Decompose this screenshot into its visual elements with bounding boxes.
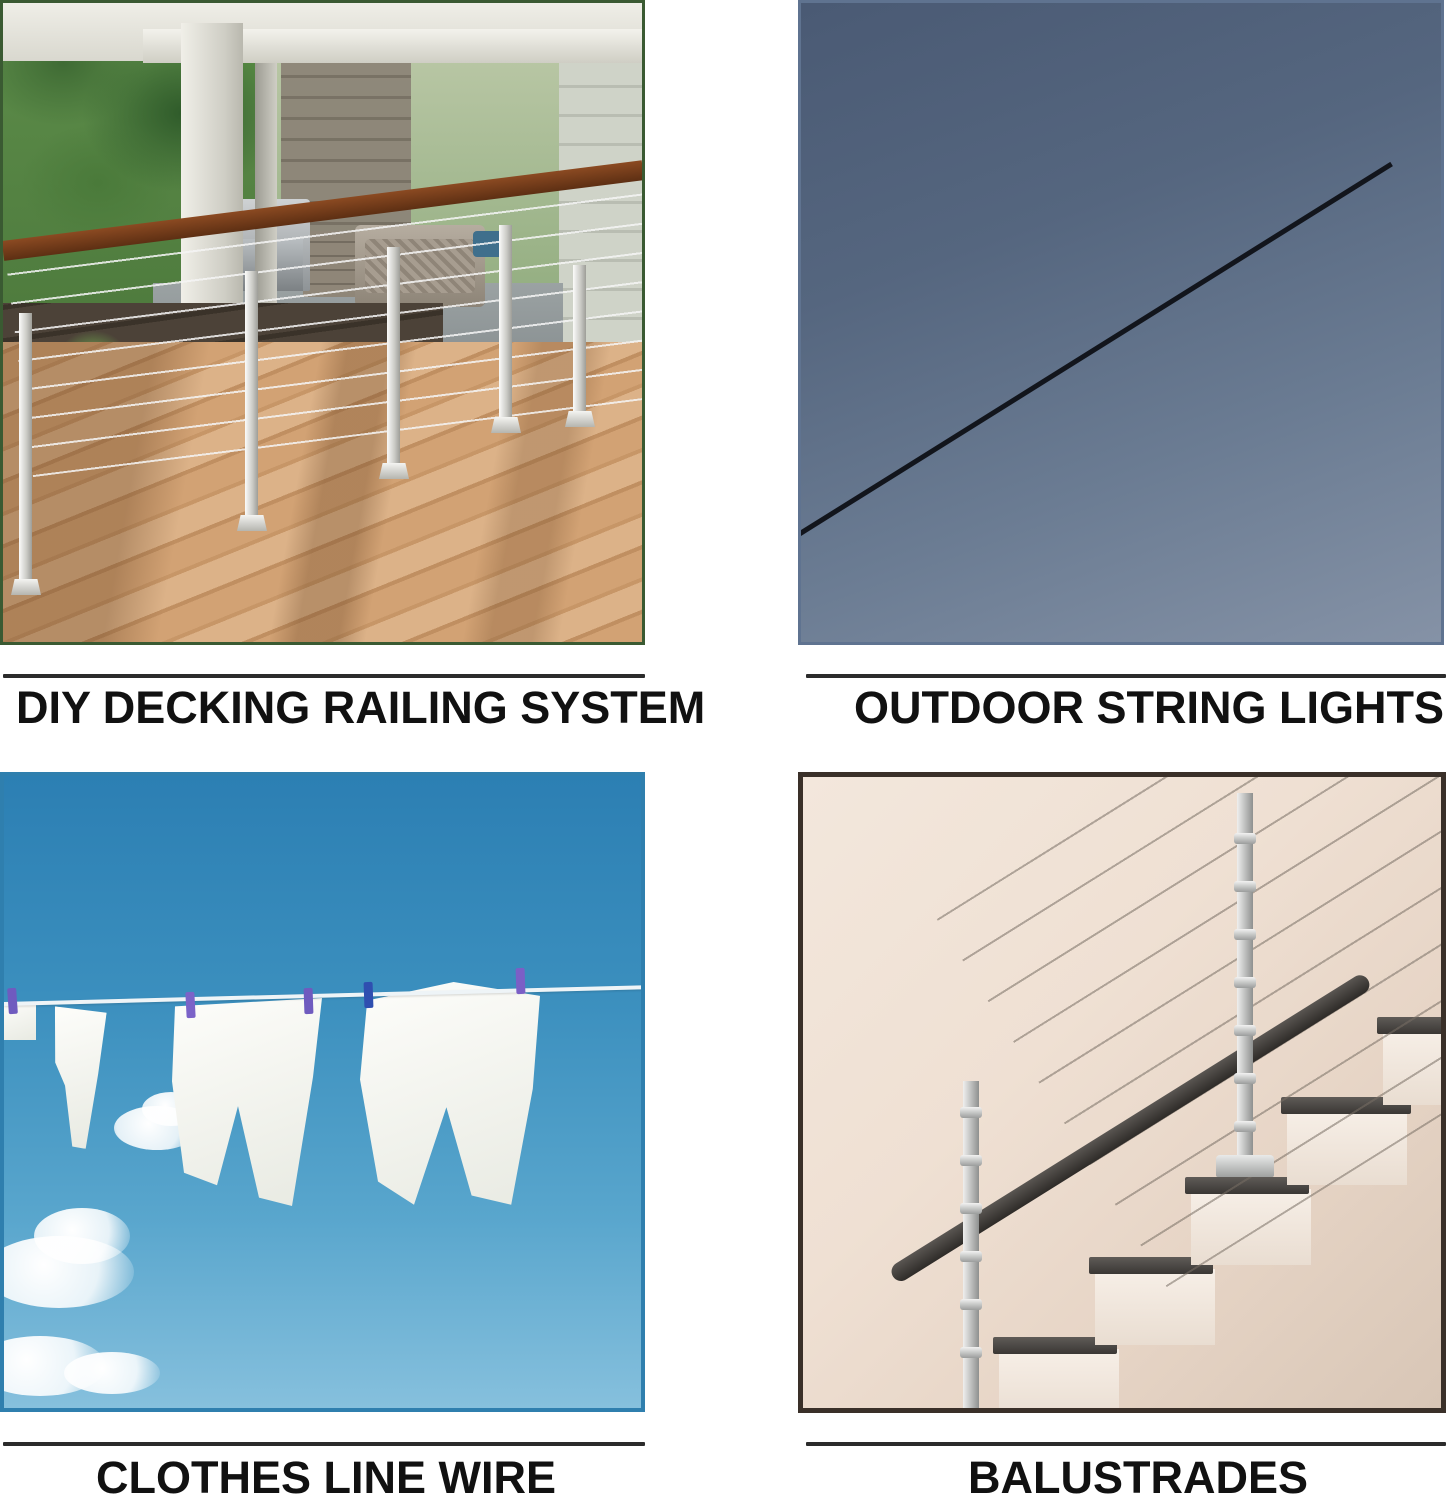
- caption-rule-1: [3, 674, 645, 678]
- string-light-bulb: [1317, 249, 1341, 279]
- category-card-clothes-line-wire[interactable]: CLOTHES LINE WIRE: [0, 772, 725, 1500]
- category-card-balustrades[interactable]: BALUSTRADES: [798, 772, 1450, 1500]
- photo-diy-decking-railing-system: [0, 0, 645, 645]
- caption-diy-decking-railing-system: DIY DECKING RAILING SYSTEM: [16, 685, 705, 730]
- string-light-bulb: [1423, 165, 1444, 195]
- string-light-bulb: [1006, 491, 1030, 521]
- string-light-bulb: [877, 569, 901, 599]
- clothespin: [364, 982, 374, 1008]
- category-card-outdoor-string-lights[interactable]: OUTDOOR STRING LIGHTS: [798, 0, 1450, 770]
- clothespin: [516, 968, 526, 994]
- photo-balustrades: [798, 772, 1446, 1413]
- photo-outdoor-string-lights: [798, 0, 1444, 645]
- photo-clothes-line-wire: [0, 772, 645, 1412]
- caption-rule-2: [806, 674, 1446, 678]
- caption-rule-4: [806, 1442, 1446, 1446]
- string-light-bulb: [825, 601, 849, 631]
- caption-clothes-line-wire: CLOTHES LINE WIRE: [96, 1455, 556, 1500]
- string-light-bulb: [1216, 323, 1240, 353]
- category-card-diy-decking-railing-system[interactable]: DIY DECKING RAILING SYSTEM: [0, 0, 725, 770]
- clothespin: [304, 988, 314, 1014]
- string-light-bulb: [1069, 443, 1093, 473]
- caption-rule-3: [3, 1442, 645, 1446]
- category-grid: DIY DECKING RAILING SYSTEM OUTDOOR STRIN…: [0, 0, 1450, 1500]
- string-light-bulb: [935, 533, 959, 563]
- clothespin: [7, 988, 18, 1015]
- caption-balustrades: BALUSTRADES: [968, 1455, 1308, 1500]
- hanging-garment: [0, 1004, 36, 1040]
- string-light-bulb: [1137, 389, 1161, 419]
- balustrade-post: [963, 1081, 979, 1411]
- clothespin: [185, 992, 195, 1018]
- caption-outdoor-string-lights: OUTDOOR STRING LIGHTS: [854, 685, 1444, 730]
